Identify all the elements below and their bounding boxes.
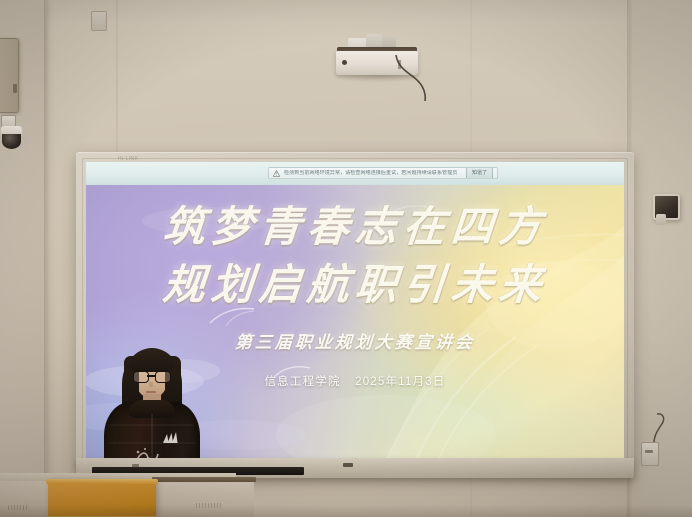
floor-shadow [0, 505, 692, 517]
dome-security-camera [0, 126, 24, 154]
presenter-nose [149, 382, 153, 387]
slide-organization: 信息工程学院 [264, 376, 340, 388]
screen-bottom-notch-icon [343, 463, 353, 467]
camera-dome-icon [2, 134, 21, 149]
wall-socket-cable [640, 412, 670, 446]
slide-headline-line-2: 规划启航职引未来 [86, 263, 624, 309]
speaker-bracket [656, 214, 666, 225]
notification-message: 检测到当前网络环境异常，请检查网络连接后重试，若问题持续请联系管理员 [284, 170, 462, 177]
projector-lens-icon [342, 60, 347, 65]
wall-socket-slot-icon [645, 450, 653, 453]
glasses-lens-left [133, 371, 149, 383]
glasses-bridge [147, 375, 155, 377]
wall-socket-plate[interactable] [641, 442, 659, 466]
presenter-eyeglasses-icon [133, 371, 170, 382]
projected-ui-strip: 检测到当前网络环境异常，请检查网络连接后重试，若问题持续请联系管理员 知道了 [86, 162, 624, 185]
ceiling-wall-plate [91, 11, 107, 31]
notification-bar[interactable]: 检测到当前网络环境异常，请检查网络连接后重试，若问题持续请联系管理员 知道了 [268, 167, 498, 179]
notification-dismiss-button[interactable]: 知道了 [466, 167, 493, 179]
slide-date: 2025年11月3日 [355, 376, 445, 388]
desk-rail [152, 477, 256, 482]
wall-cabinet[interactable] [0, 38, 19, 113]
projector-cable [394, 55, 432, 101]
slide-headline-line-1: 筑梦青春志在四方 [86, 205, 624, 251]
presenter [96, 344, 208, 474]
warning-triangle-icon [273, 170, 280, 177]
presenter-hair-fringe [130, 350, 173, 372]
podium-top-edge [46, 479, 158, 484]
three-stripes-logo-icon [162, 432, 178, 444]
classroom-scene: Hi-LINK 检测到当前网络环境异常，请检查网络连接后重试，若问题持续请联系管… [0, 0, 692, 517]
cabinet-latch-icon[interactable] [13, 84, 17, 93]
left-wall-corner [44, 0, 48, 517]
glasses-lens-right [155, 371, 171, 383]
